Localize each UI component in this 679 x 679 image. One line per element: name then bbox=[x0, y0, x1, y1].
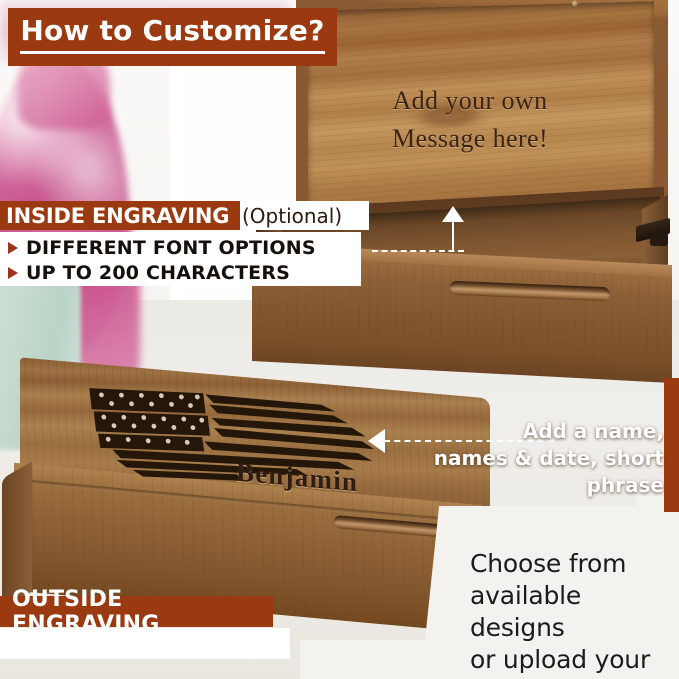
inside-engraving-label: INSIDE ENGRAVING bbox=[0, 204, 229, 228]
name-callout-text: Add a name, names & date, short phrase bbox=[396, 418, 664, 499]
lid-engraved-message: Add your own Message here! bbox=[330, 82, 610, 158]
triangle-bullet-icon bbox=[8, 242, 18, 254]
lid-message-line-2: Message here! bbox=[330, 120, 610, 158]
list-item: UP TO 200 CHARACTERS bbox=[8, 260, 361, 285]
name-callout-line-1: Add a name, bbox=[396, 418, 664, 445]
name-callout-line-2: names & date, short phrase bbox=[396, 445, 664, 499]
inside-callout-stem bbox=[452, 221, 454, 251]
triangle-bullet-icon bbox=[8, 267, 18, 279]
design-options-text: Choose from available designs or upload … bbox=[470, 548, 675, 679]
inside-callout-dashed-line bbox=[372, 250, 464, 252]
page-title-banner: How to Customize? bbox=[8, 8, 337, 66]
lid-message-line-1: Add your own bbox=[330, 82, 610, 120]
list-item: DIFFERENT FONT OPTIONS bbox=[8, 235, 361, 260]
outside-engraving-panel bbox=[0, 628, 290, 659]
inside-bullet-1: DIFFERENT FONT OPTIONS bbox=[26, 237, 316, 259]
inside-callout-arrow-icon bbox=[442, 206, 464, 222]
name-callout-arrow-icon bbox=[368, 429, 385, 453]
box-hinge-pin bbox=[650, 234, 668, 246]
choose-line-1: Choose from bbox=[470, 548, 675, 580]
inside-engraving-list: DIFFERENT FONT OPTIONS UP TO 200 CHARACT… bbox=[0, 232, 361, 286]
inside-optional-label: (Optional) bbox=[240, 204, 342, 228]
inside-optional-chip: (Optional) bbox=[240, 201, 369, 230]
right-accent-bar bbox=[664, 378, 679, 512]
page-title: How to Customize? bbox=[20, 16, 324, 46]
title-underline bbox=[20, 51, 325, 54]
choose-line-2: available designs bbox=[470, 580, 675, 644]
infographic-canvas: Add your own Message here! bbox=[0, 0, 679, 679]
inside-bullet-2: UP TO 200 CHARACTERS bbox=[26, 262, 290, 284]
outside-engraving-bar: OUTSIDE ENGRAVING bbox=[0, 596, 273, 627]
choose-line-3: or upload your bbox=[470, 644, 675, 676]
